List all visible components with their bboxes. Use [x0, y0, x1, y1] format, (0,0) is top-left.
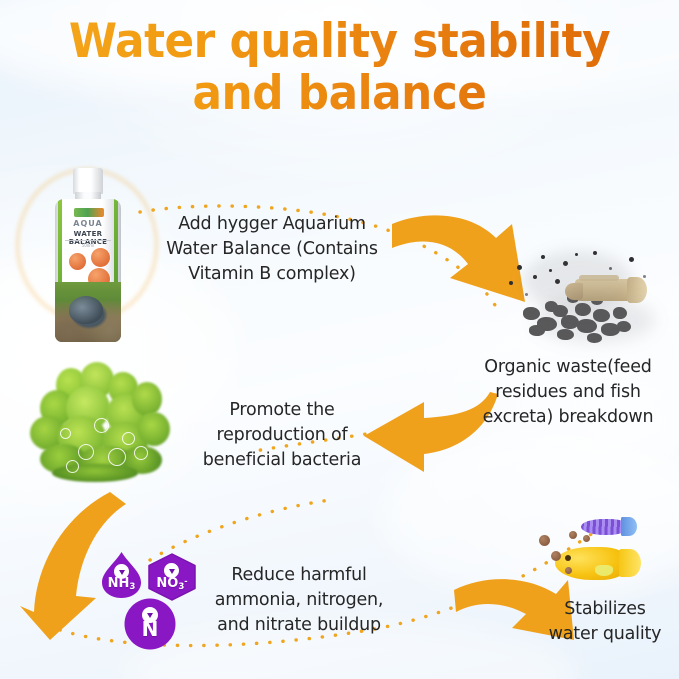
fish-skeleton-head — [565, 283, 583, 300]
aquarium-fish-image — [535, 505, 679, 600]
step-3-line-3: beneficial bacteria — [185, 448, 379, 473]
molecule-label-nitrate: NO3- — [146, 576, 198, 592]
step-beneficial-bacteria-text: Promote the reproduction of beneficial b… — [185, 398, 379, 473]
molecule-label-nitrogen: N — [123, 617, 177, 641]
molecule-badge-nitrate[interactable]: NO3- — [146, 553, 198, 601]
oxygen-bubble — [134, 446, 148, 460]
yellow-fish-tail — [619, 549, 641, 577]
step-4-line-3: and nitrate buildup — [197, 613, 401, 638]
formula-sup: - — [184, 577, 187, 586]
step-reduce-harmful-text: Reduce harmful ammonia, nitrogen, and ni… — [197, 563, 401, 638]
formula-main: NO — [156, 576, 178, 591]
formula-main: NH — [108, 576, 130, 591]
formula-main: N — [142, 617, 159, 641]
step-2-line-1: Organic waste(feed — [460, 355, 676, 380]
oxygen-bubble — [108, 448, 126, 466]
label-badge-2 — [91, 248, 110, 267]
step-4-line-2: ammonia, nitrogen, — [197, 588, 401, 613]
formula-sub: 3 — [129, 582, 135, 592]
product-line-label: AQUA — [55, 219, 121, 228]
molecule-badge-ammonia[interactable]: NH3 — [99, 551, 144, 599]
step-1-line-2: Water Balance (Contains — [141, 237, 403, 262]
bottle-body: AQUA WATER BALANCE 500ml — [55, 199, 121, 342]
food-pellet — [551, 551, 561, 561]
step-stabilizes-text: Stabilizes water quality — [532, 597, 678, 647]
product-volume-label: 500ml — [55, 243, 121, 248]
fish-skeleton-tail — [627, 277, 647, 303]
step-add-product-text: Add hygger Aquarium Water Balance (Conta… — [141, 212, 403, 287]
fish-skeleton-body — [575, 279, 633, 301]
label-fish-photo — [55, 282, 121, 342]
oxygen-bubble — [66, 460, 79, 473]
oxygen-bubble — [78, 444, 94, 460]
aquatic-plants-image — [22, 360, 182, 485]
step-organic-waste-text: Organic waste(feed residues and fish exc… — [460, 355, 676, 430]
infographic-canvas: Water quality stability and balance AQUA… — [0, 0, 679, 679]
molecule-badge-nitrogen[interactable]: N — [123, 597, 177, 651]
bottle-cap — [73, 168, 103, 194]
step-5-line-1: Stabilizes — [532, 597, 678, 622]
step-2-line-3: excreta) breakdown — [460, 405, 676, 430]
food-pellet — [569, 531, 577, 539]
yellow-fish — [555, 547, 627, 580]
oxygen-bubble — [94, 418, 109, 433]
step-2-line-2: residues and fish — [460, 380, 676, 405]
step-5-line-2: water quality — [532, 622, 678, 647]
oxygen-bubble — [60, 428, 71, 439]
molecule-label-ammonia: NH3 — [99, 576, 144, 592]
yellow-fish-fin — [595, 565, 613, 576]
label-badge-1 — [69, 253, 86, 270]
food-pellet — [565, 567, 572, 574]
step-1-line-3: Vitamin B complex) — [141, 262, 403, 287]
purple-fish-tail — [621, 517, 637, 536]
step-3-line-2: reproduction of — [185, 423, 379, 448]
food-pellet — [583, 535, 590, 542]
food-pellet — [539, 535, 550, 546]
product-bottle[interactable]: AQUA WATER BALANCE 500ml — [54, 168, 122, 342]
hygger-logo — [74, 208, 104, 217]
label-divider — [65, 240, 111, 241]
step-1-line-1: Add hygger Aquarium — [141, 212, 403, 237]
organic-waste-image — [505, 245, 670, 355]
step-4-line-1: Reduce harmful — [197, 563, 401, 588]
step-3-line-1: Promote the — [185, 398, 379, 423]
oxygen-bubble — [122, 432, 135, 445]
